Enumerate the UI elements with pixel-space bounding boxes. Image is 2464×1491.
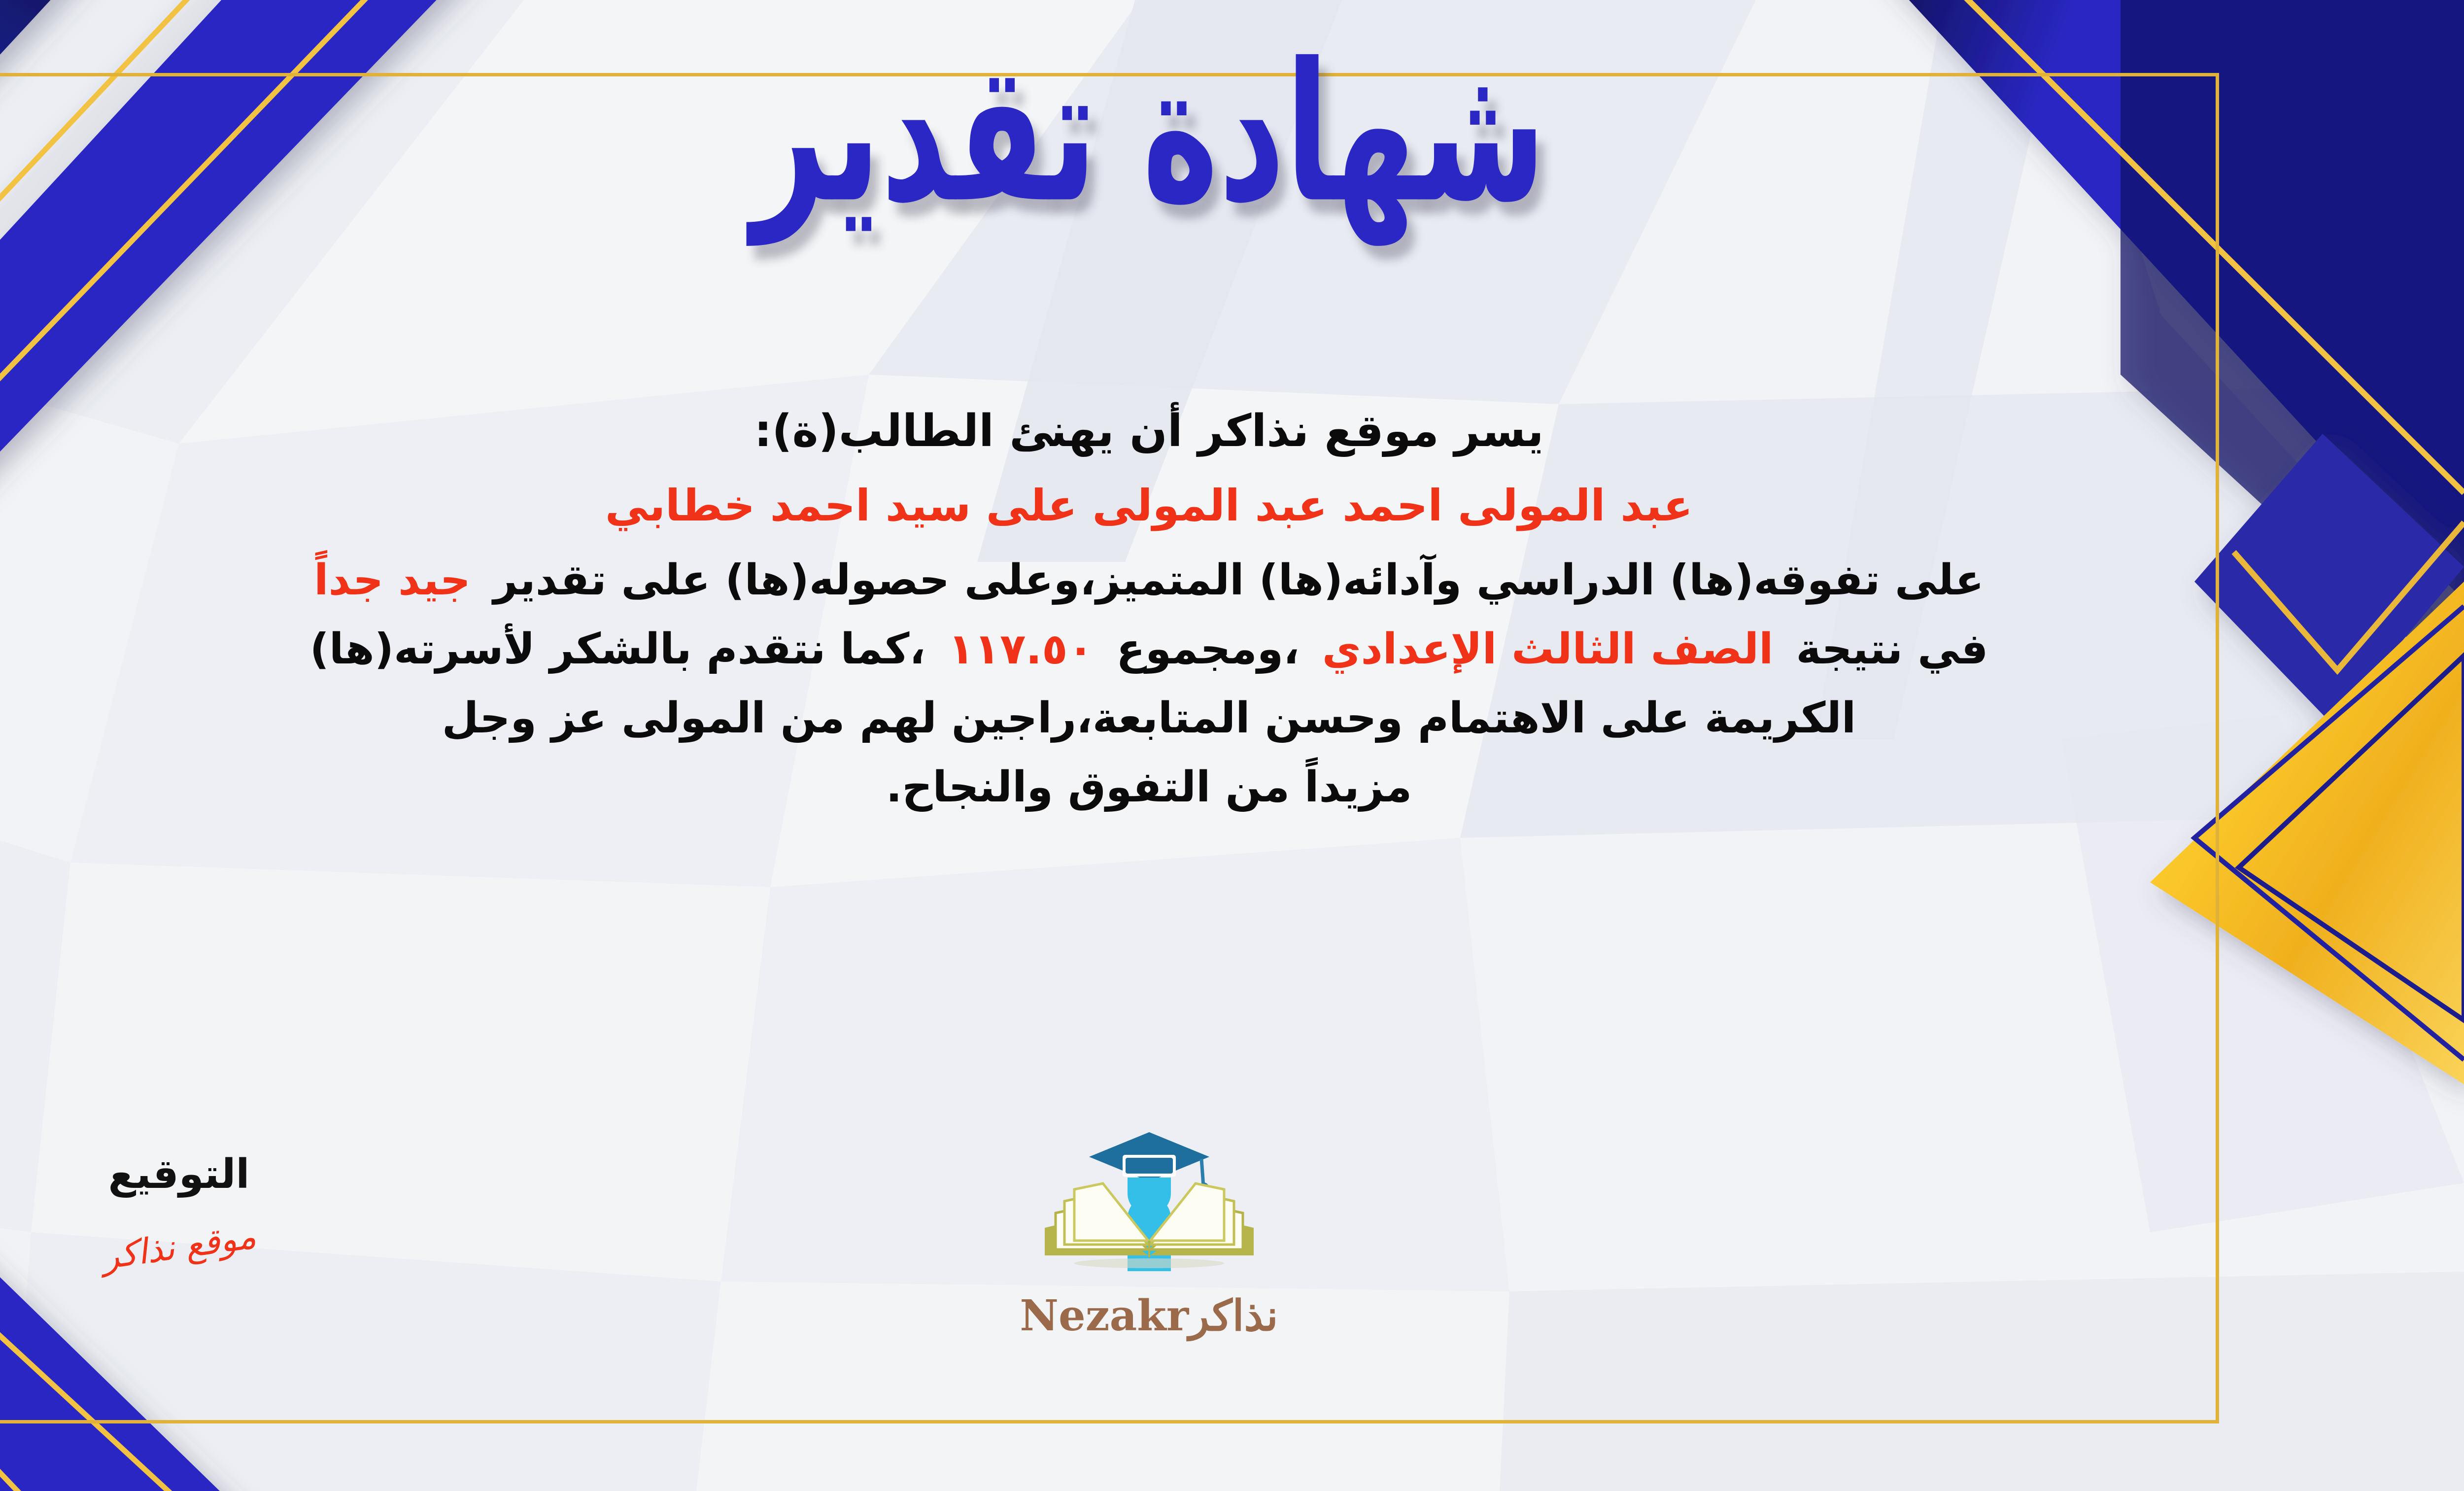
total-score: ١١٧.٥٠	[948, 624, 1094, 674]
certificate-title: شهادة تقدير	[0, 14, 2464, 253]
family-thanks-line: الكريمة على الاهتمام وحسن المتابعة،راجين…	[0, 697, 2346, 739]
grade-value: جيد جداً	[314, 555, 471, 605]
brand-name-arabic: نذاكر	[1189, 1291, 1278, 1341]
thanks-text: ،كما نتقدم بالشكر لأسرته(ها)	[310, 624, 925, 674]
graduate-book-icon	[1036, 1126, 1263, 1289]
certificate-body: يسر موقع نذاكر أن يهنئ الطالب(ة): عبد ال…	[0, 409, 2346, 808]
certificate-canvas: شهادة تقدير يسر موقع نذاكر أن يهنئ الطال…	[0, 0, 2464, 1491]
closing-line: مزيداً من التفوق والنجاح.	[0, 766, 2346, 808]
result-prefix: في نتيجة	[1796, 624, 1988, 674]
total-label: ،ومجموع	[1116, 624, 1300, 674]
signature-area: التوقيع موقع نذاكر	[0, 1151, 524, 1267]
class-value: الصف الثالث الإعدادي	[1322, 624, 1774, 674]
result-line: في نتيجةالصف الثالث الإعدادي،ومجموع١١٧.٥…	[0, 628, 2346, 670]
student-name: عبد المولى احمد عبد المولى على سيد احمد …	[0, 484, 2346, 527]
brand-wordmark: نذاكرNezakr	[962, 1291, 1336, 1341]
achievement-line: على تفوقه(ها) الدراسي وآدائه(ها) المتميز…	[0, 559, 2346, 601]
signature-label: التوقيع	[0, 1151, 524, 1198]
brand-logo: نذاكرNezakr	[962, 1126, 1336, 1341]
signature-mark: موقع نذاكر	[100, 1216, 259, 1278]
achievement-text: على تفوقه(ها) الدراسي وآدائه(ها) المتميز…	[493, 555, 1984, 605]
greeting-line: يسر موقع نذاكر أن يهنئ الطالب(ة):	[0, 409, 2346, 453]
brand-name-latin: Nezakr	[1020, 1291, 1189, 1341]
